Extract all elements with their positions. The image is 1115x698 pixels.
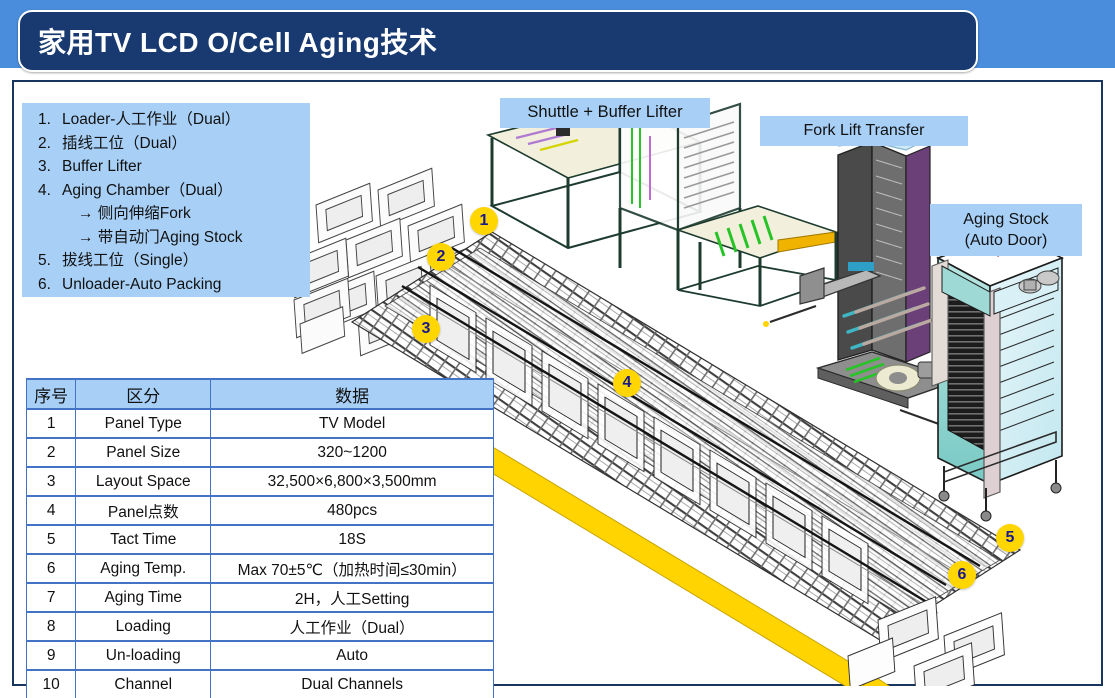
process-step-legend: 1.Loader-人工作业（Dual） 2.插线工位（Dual） 3.Buffe… [22,103,310,297]
cell-no: 7 [27,583,76,612]
cell-div: Panel Size [76,438,211,467]
legend-label: Unloader-Auto Packing [62,273,304,297]
cell-data: 320~1200 [211,438,494,467]
cell-div: Un-loading [76,641,211,670]
legend-list: 1.Loader-人工作业（Dual） 2.插线工位（Dual） 3.Buffe… [30,108,304,296]
cell-data: 2H，人工Setting [211,583,494,612]
table-row: 4Panel点数480pcs [27,496,494,525]
step-marker-4: 4 [613,369,641,397]
legend-number: 4. [30,179,62,203]
table-header-data: 数据 [211,379,494,409]
list-item: 6.Unloader-Auto Packing [30,273,304,297]
cell-div: Channel [76,670,211,698]
callout-shuttle-buffer-lifter: Shuttle + Buffer Lifter [500,98,710,128]
table-row: 1Panel TypeTV Model [27,409,494,438]
legend-number: 3. [30,155,62,179]
cell-no: 8 [27,612,76,641]
legend-number: 1. [30,108,62,132]
legend-label: Buffer Lifter [62,155,304,179]
spec-table: 序号 区分 数据 1Panel TypeTV Model 2Panel Size… [26,378,494,698]
callout-fork-lift-transfer: Fork Lift Transfer [760,116,968,146]
legend-number: 5. [30,249,62,273]
table-row: 3Layout Space32,500×6,800×3,500mm [27,467,494,496]
step-marker-3: 3 [412,315,440,343]
list-item: 3.Buffer Lifter [30,155,304,179]
list-item: 1.Loader-人工作业（Dual） [30,108,304,132]
legend-label: 插线工位（Dual） [62,132,304,156]
cell-no: 4 [27,496,76,525]
list-item: 5.拔线工位（Single） [30,249,304,273]
legend-label: Loader-人工作业（Dual） [62,108,304,132]
table-row: 2Panel Size320~1200 [27,438,494,467]
cell-data: Dual Channels [211,670,494,698]
cell-data: Auto [211,641,494,670]
cell-no: 9 [27,641,76,670]
legend-label: Aging Chamber（Dual） [62,179,304,203]
cell-data: 480pcs [211,496,494,525]
table-row: 9Un-loadingAuto [27,641,494,670]
cell-div: Panel Type [76,409,211,438]
cell-data: 18S [211,525,494,554]
table-row: 8Loading人工作业（Dual） [27,612,494,641]
legend-label: 拔线工位（Single） [62,249,304,273]
cell-no: 3 [27,467,76,496]
cell-div: Aging Temp. [76,554,211,583]
step-marker-2: 2 [427,243,455,271]
table-body: 1Panel TypeTV Model 2Panel Size320~1200 … [27,409,494,698]
cell-data: TV Model [211,409,494,438]
cell-no: 10 [27,670,76,698]
cell-div: Aging Time [76,583,211,612]
table-header-no: 序号 [27,379,76,409]
slide-title-box: 家用TV LCD O/Cell Aging技术 [18,10,978,72]
step-marker-6: 6 [948,561,976,589]
cell-data: 人工作业（Dual） [211,612,494,641]
table-row: 10ChannelDual Channels [27,670,494,698]
callout-aging-stock: Aging Stock (Auto Door) [930,204,1082,256]
table-row: 5Tact Time18S [27,525,494,554]
cell-data: Max 70±5℃（加热时间≤30min） [211,554,494,583]
cell-no: 2 [27,438,76,467]
cell-div: Loading [76,612,211,641]
slide-root: 家用TV LCD O/Cell Aging技术 [0,0,1115,698]
table-header-div: 区分 [76,379,211,409]
cell-no: 6 [27,554,76,583]
cell-no: 1 [27,409,76,438]
legend-number: 2. [30,132,62,156]
table-header-row: 序号 区分 数据 [27,379,494,409]
list-item: 4.Aging Chamber（Dual） [30,179,304,203]
list-item-sub: → 带自动门Aging Stock [30,226,304,250]
page-title: 家用TV LCD O/Cell Aging技术 [20,21,437,61]
table-row: 6Aging Temp.Max 70±5℃（加热时间≤30min） [27,554,494,583]
cell-data: 32,500×6,800×3,500mm [211,467,494,496]
cell-div: Layout Space [76,467,211,496]
cell-div: Panel点数 [76,496,211,525]
step-marker-5: 5 [996,524,1024,552]
cell-no: 5 [27,525,76,554]
table-row: 7Aging Time2H，人工Setting [27,583,494,612]
legend-number: 6. [30,273,62,297]
cell-div: Tact Time [76,525,211,554]
step-marker-1: 1 [470,207,498,235]
list-item-sub: → 侧向伸缩Fork [30,202,304,226]
list-item: 2.插线工位（Dual） [30,132,304,156]
